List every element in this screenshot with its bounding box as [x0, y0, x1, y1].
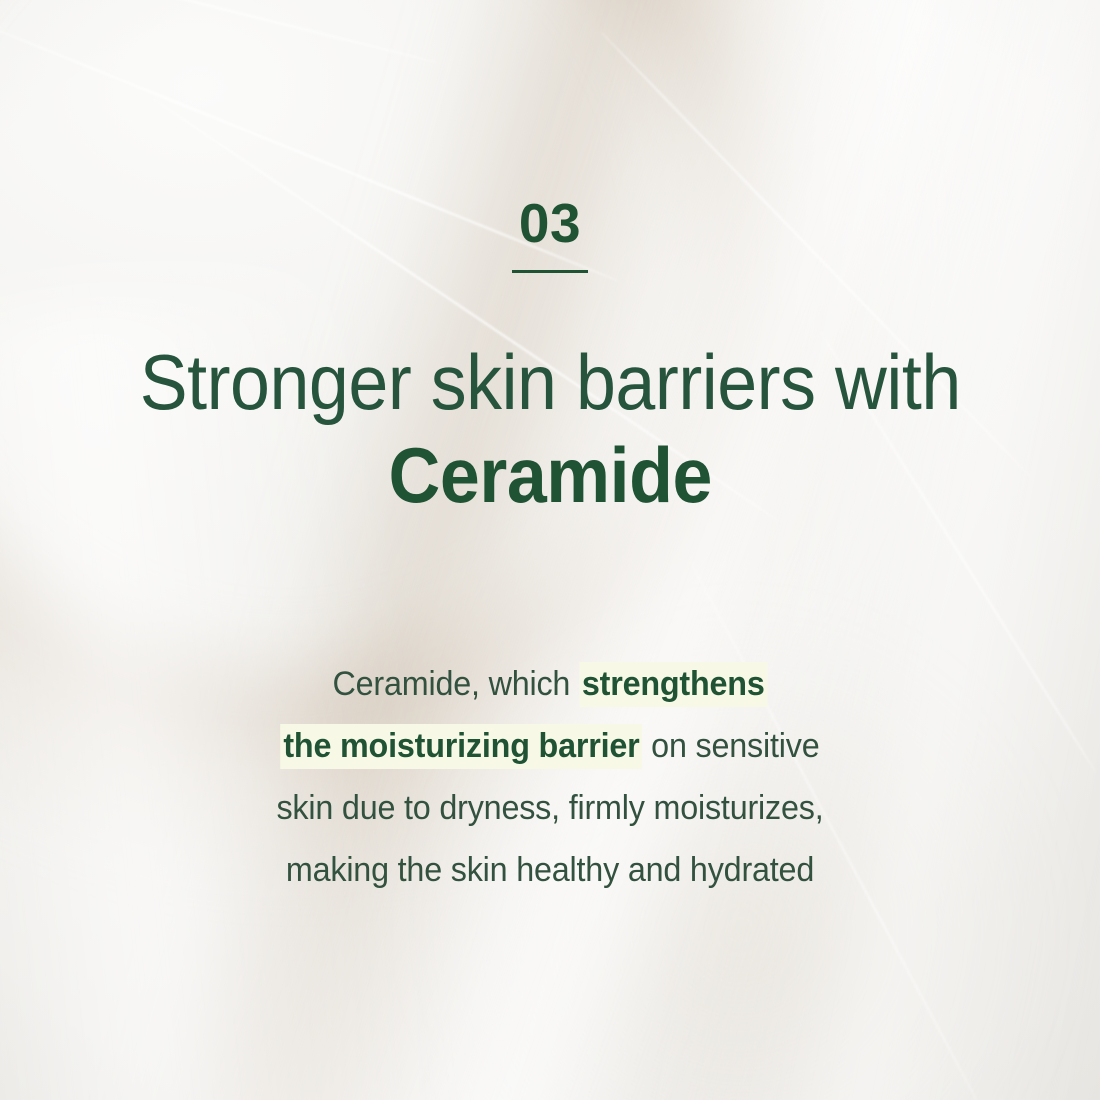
step-underline-rule — [512, 270, 588, 273]
page-title: Stronger skin barriers with Ceramide — [104, 339, 997, 520]
step-number: 03 — [519, 196, 581, 251]
description-line-1-plain: Ceramide, which — [333, 665, 579, 703]
description-line-2: the moisturizing barrier on sensitive — [189, 715, 911, 777]
description-line-1: Ceramide, which strengthens — [189, 653, 911, 715]
description-line-4: making the skin healthy and hydrated — [189, 839, 911, 901]
headline-line-1: Stronger skin barriers with — [139, 339, 960, 426]
description-highlight-strengthens: strengthens — [579, 662, 767, 707]
description-text: Ceramide, which strengthens the moisturi… — [170, 653, 930, 901]
description-line-3: skin due to dryness, firmly moisturizes, — [189, 777, 911, 839]
step-indicator: 03 — [512, 196, 588, 273]
description-line-2-plain: on sensitive — [642, 727, 819, 765]
headline-line-2: Ceramide — [139, 432, 960, 519]
slide-content: 03 Stronger skin barriers with Ceramide … — [0, 0, 1100, 1100]
promo-slide: 03 Stronger skin barriers with Ceramide … — [0, 0, 1100, 1100]
description-highlight-moisturizing-barrier: the moisturizing barrier — [281, 724, 643, 769]
